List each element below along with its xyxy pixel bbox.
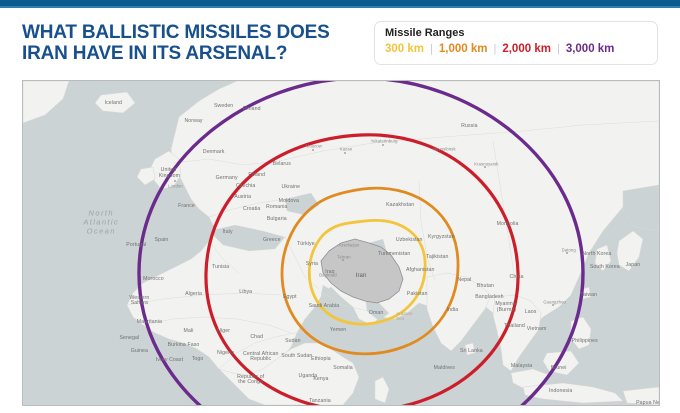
page-title-line-2: IRAN HAVE IN ITS ARSENAL?	[22, 43, 352, 64]
legend-separator: |	[424, 43, 439, 55]
legend-item-300km: 300 km	[385, 43, 424, 55]
legend-title: Missile Ranges	[385, 27, 647, 40]
map-panel[interactable]: IcelandNorwaySwedenFinlandUnitedKingdomD…	[22, 80, 660, 406]
top-accent-bar	[0, 0, 680, 8]
legend-separator: |	[551, 43, 566, 55]
legend-item-2000km: 2,000 km	[502, 43, 551, 55]
header: WHAT BALLISTIC MISSILES DOES IRAN HAVE I…	[0, 8, 680, 72]
world-map[interactable]	[23, 81, 659, 405]
page-title: WHAT BALLISTIC MISSILES DOES IRAN HAVE I…	[22, 22, 352, 64]
legend-panel: Missile Ranges 300 km | 1,000 km | 2,000…	[374, 21, 658, 65]
legend-separator: |	[487, 43, 502, 55]
legend-item-1000km: 1,000 km	[439, 43, 488, 55]
page-title-line-1: WHAT BALLISTIC MISSILES DOES	[22, 22, 330, 43]
legend-items: 300 km | 1,000 km | 2,000 km | 3,000 km	[385, 43, 647, 55]
legend-item-3000km: 3,000 km	[566, 43, 615, 55]
